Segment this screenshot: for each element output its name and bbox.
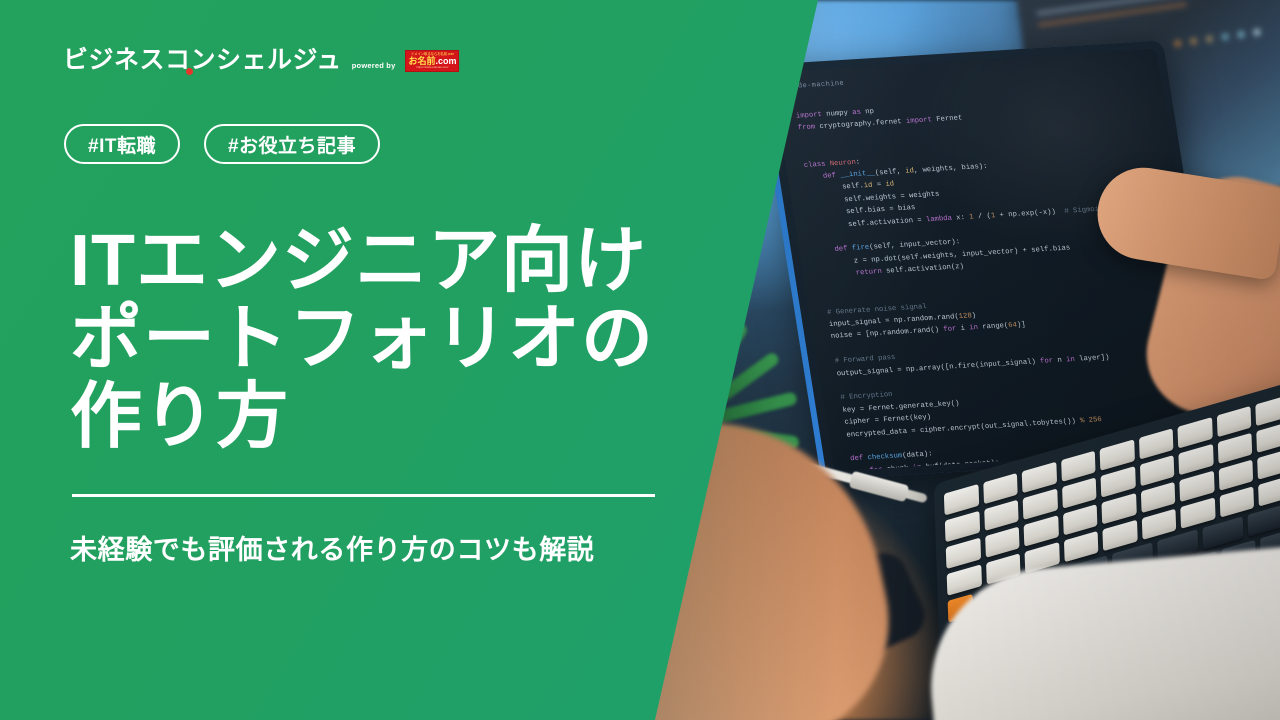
brand-name-text: ビジネスコンシェルジュ bbox=[63, 46, 342, 74]
brand-accent-dot bbox=[186, 68, 193, 75]
brand-logo[interactable]: ビジネスコンシェルジュ powered by ドメイン取るならお名前.com お… bbox=[63, 48, 459, 73]
hero-content: ビジネスコンシェルジュ powered by ドメイン取るならお名前.com お… bbox=[0, 0, 1280, 720]
page-title-line-2: ポートフォリオの bbox=[70, 300, 670, 378]
tag-it-tenshoku[interactable]: #IT転職 bbox=[64, 124, 180, 164]
page-title-line-1: ITエンジニア向け bbox=[70, 222, 670, 300]
onamae-com-badge[interactable]: ドメイン取るならお名前.com お名前.com https://www.onam… bbox=[405, 50, 459, 72]
page-title-line-3: 作り方 bbox=[70, 378, 670, 456]
badge-sub-line: https://www.onamae.com/ bbox=[416, 66, 448, 69]
title-divider bbox=[72, 494, 655, 497]
brand-name: ビジネスコンシェルジュ bbox=[63, 48, 342, 73]
hero-banner: ide-machine import numpy as np from cryp… bbox=[0, 0, 1280, 720]
tag-list: #IT転職 #お役立ち記事 bbox=[64, 124, 380, 164]
powered-by-label: powered by bbox=[352, 61, 396, 73]
page-subtitle: 未経験でも評価される作り方のコツも解説 bbox=[70, 528, 594, 567]
tag-oyakudachi-kiji[interactable]: #お役立ち記事 bbox=[204, 124, 380, 164]
page-title: ITエンジニア向け ポートフォリオの 作り方 bbox=[70, 222, 670, 456]
